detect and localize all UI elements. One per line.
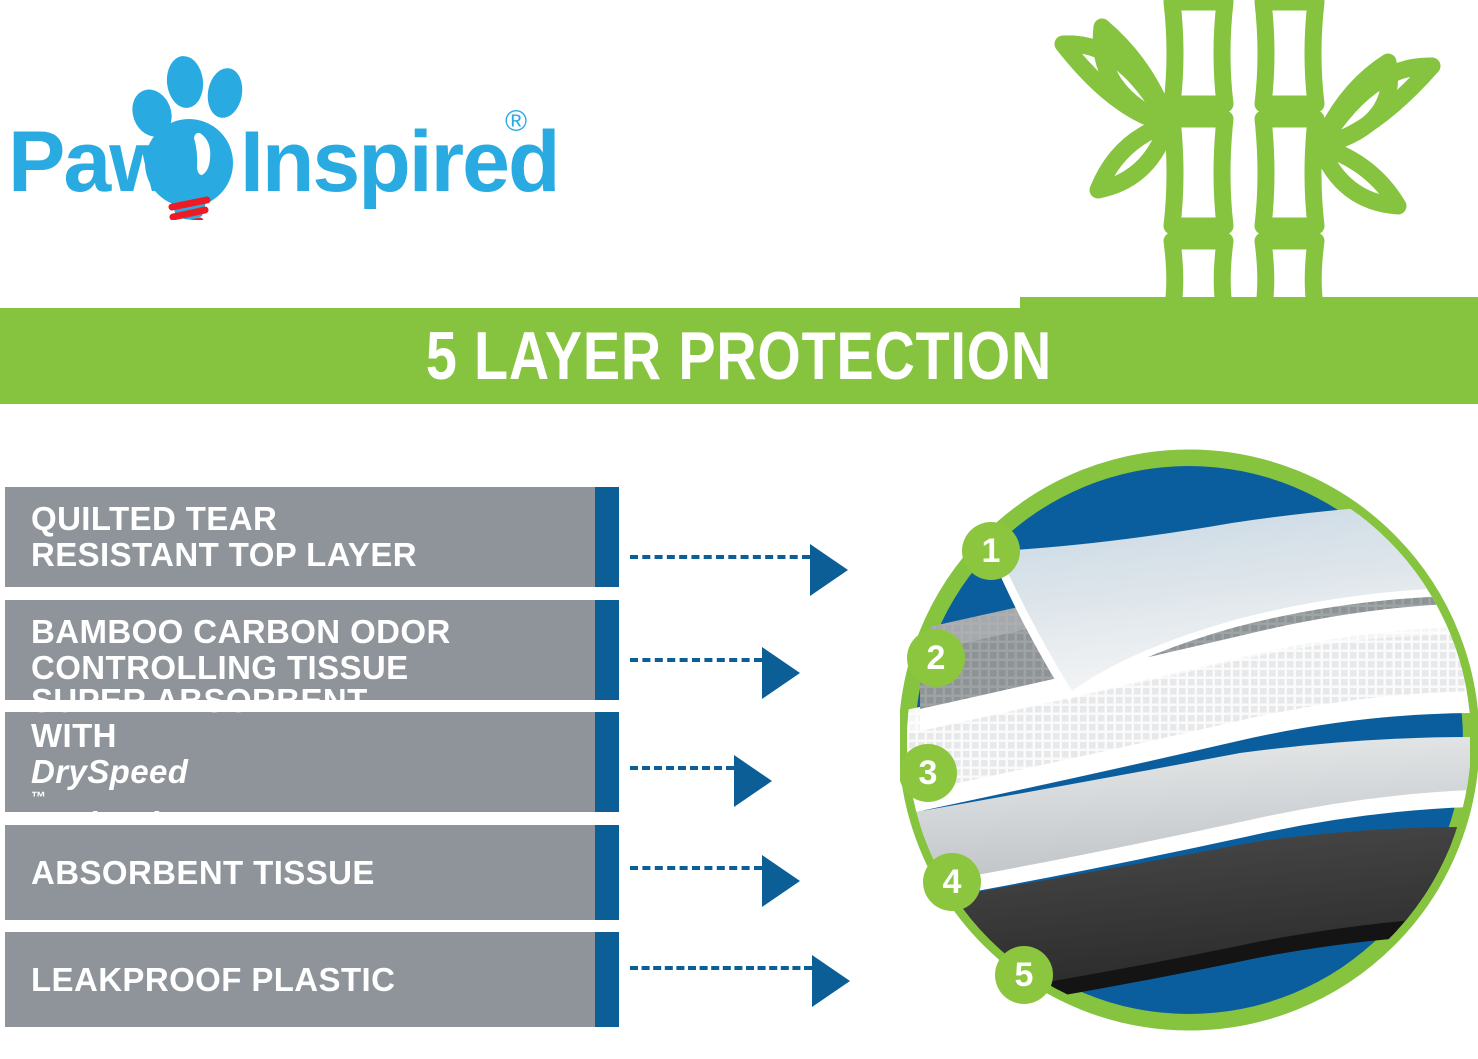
trademark-icon: ™	[31, 790, 583, 806]
layer-badge-label-2: 2	[908, 630, 964, 686]
layer-label-text-5: LEAKPROOF PLASTIC	[31, 932, 583, 1027]
layer-label-text-4: ABSORBENT TISSUE	[31, 825, 583, 920]
bamboo-stalks-icon	[1020, 0, 1478, 314]
arrow-head-icon	[810, 544, 848, 596]
dryspeed-mark: DrySpeed	[31, 754, 583, 790]
page-title: 5 LAYER PROTECTION	[133, 308, 1345, 404]
brand-logo: Paw Inspired ®	[8, 55, 568, 220]
arrow-dashed-line	[630, 555, 810, 559]
arrow-head-icon	[762, 855, 800, 907]
layer-label-line: ABSORBENT TISSUE	[31, 855, 583, 891]
layer-label-line: CONTROLLING TISSUE	[31, 650, 583, 686]
layer-label-text-1: QUILTED TEAR RESISTANT TOP LAYER	[31, 487, 583, 587]
layer-label-line-rich: WITH DrySpeed™ Technology	[31, 718, 583, 841]
arrow-dashed-line	[630, 966, 812, 970]
layer-label-line: SUPER ABSORBENT	[31, 683, 583, 719]
layer-label-line: RESISTANT TOP LAYER	[31, 537, 583, 573]
label-bar-accent-3	[595, 712, 619, 812]
layer-label-bar-4: ABSORBENT TISSUE	[5, 825, 619, 920]
layer-badge-label-4: 4	[924, 854, 980, 910]
layer-label-text-3: SUPER ABSORBENT WITH DrySpeed™ Technolog…	[31, 712, 583, 812]
five-layer-cross-section-diagram: 1 2 3 4 5	[900, 445, 1478, 1045]
label-bar-accent-1	[595, 487, 619, 587]
infographic-page: Paw Inspired ® 5 LAYER PROTECTION	[0, 0, 1478, 1059]
arrow-head-icon	[762, 647, 800, 699]
label-bar-accent-4	[595, 825, 619, 920]
layer-label-bar-5: LEAKPROOF PLASTIC	[5, 932, 619, 1027]
layer-badge-label-5: 5	[996, 947, 1052, 1003]
layer-label-bar-1: QUILTED TEAR RESISTANT TOP LAYER	[5, 487, 619, 587]
registered-trademark-icon: ®	[505, 107, 527, 137]
label-prefix: WITH	[31, 718, 583, 754]
arrow-head-icon	[812, 955, 850, 1007]
logo-text-paw: Paw	[8, 119, 174, 205]
arrow-head-icon	[734, 755, 772, 807]
layer-badge-label-1: 1	[963, 523, 1019, 579]
layer-label-line: BAMBOO CARBON ODOR	[31, 614, 583, 650]
arrow-dashed-line	[630, 766, 734, 770]
layer-badge-label-3: 3	[900, 745, 956, 801]
arrow-dashed-line	[630, 866, 762, 870]
layer-label-bar-3: SUPER ABSORBENT WITH DrySpeed™ Technolog…	[5, 712, 619, 812]
layer-label-line: QUILTED TEAR	[31, 501, 583, 537]
arrow-dashed-line	[630, 658, 762, 662]
label-bar-accent-2	[595, 600, 619, 700]
label-bar-accent-5	[595, 932, 619, 1027]
layer-label-line: LEAKPROOF PLASTIC	[31, 962, 583, 998]
banner: 5 LAYER PROTECTION	[0, 308, 1478, 404]
